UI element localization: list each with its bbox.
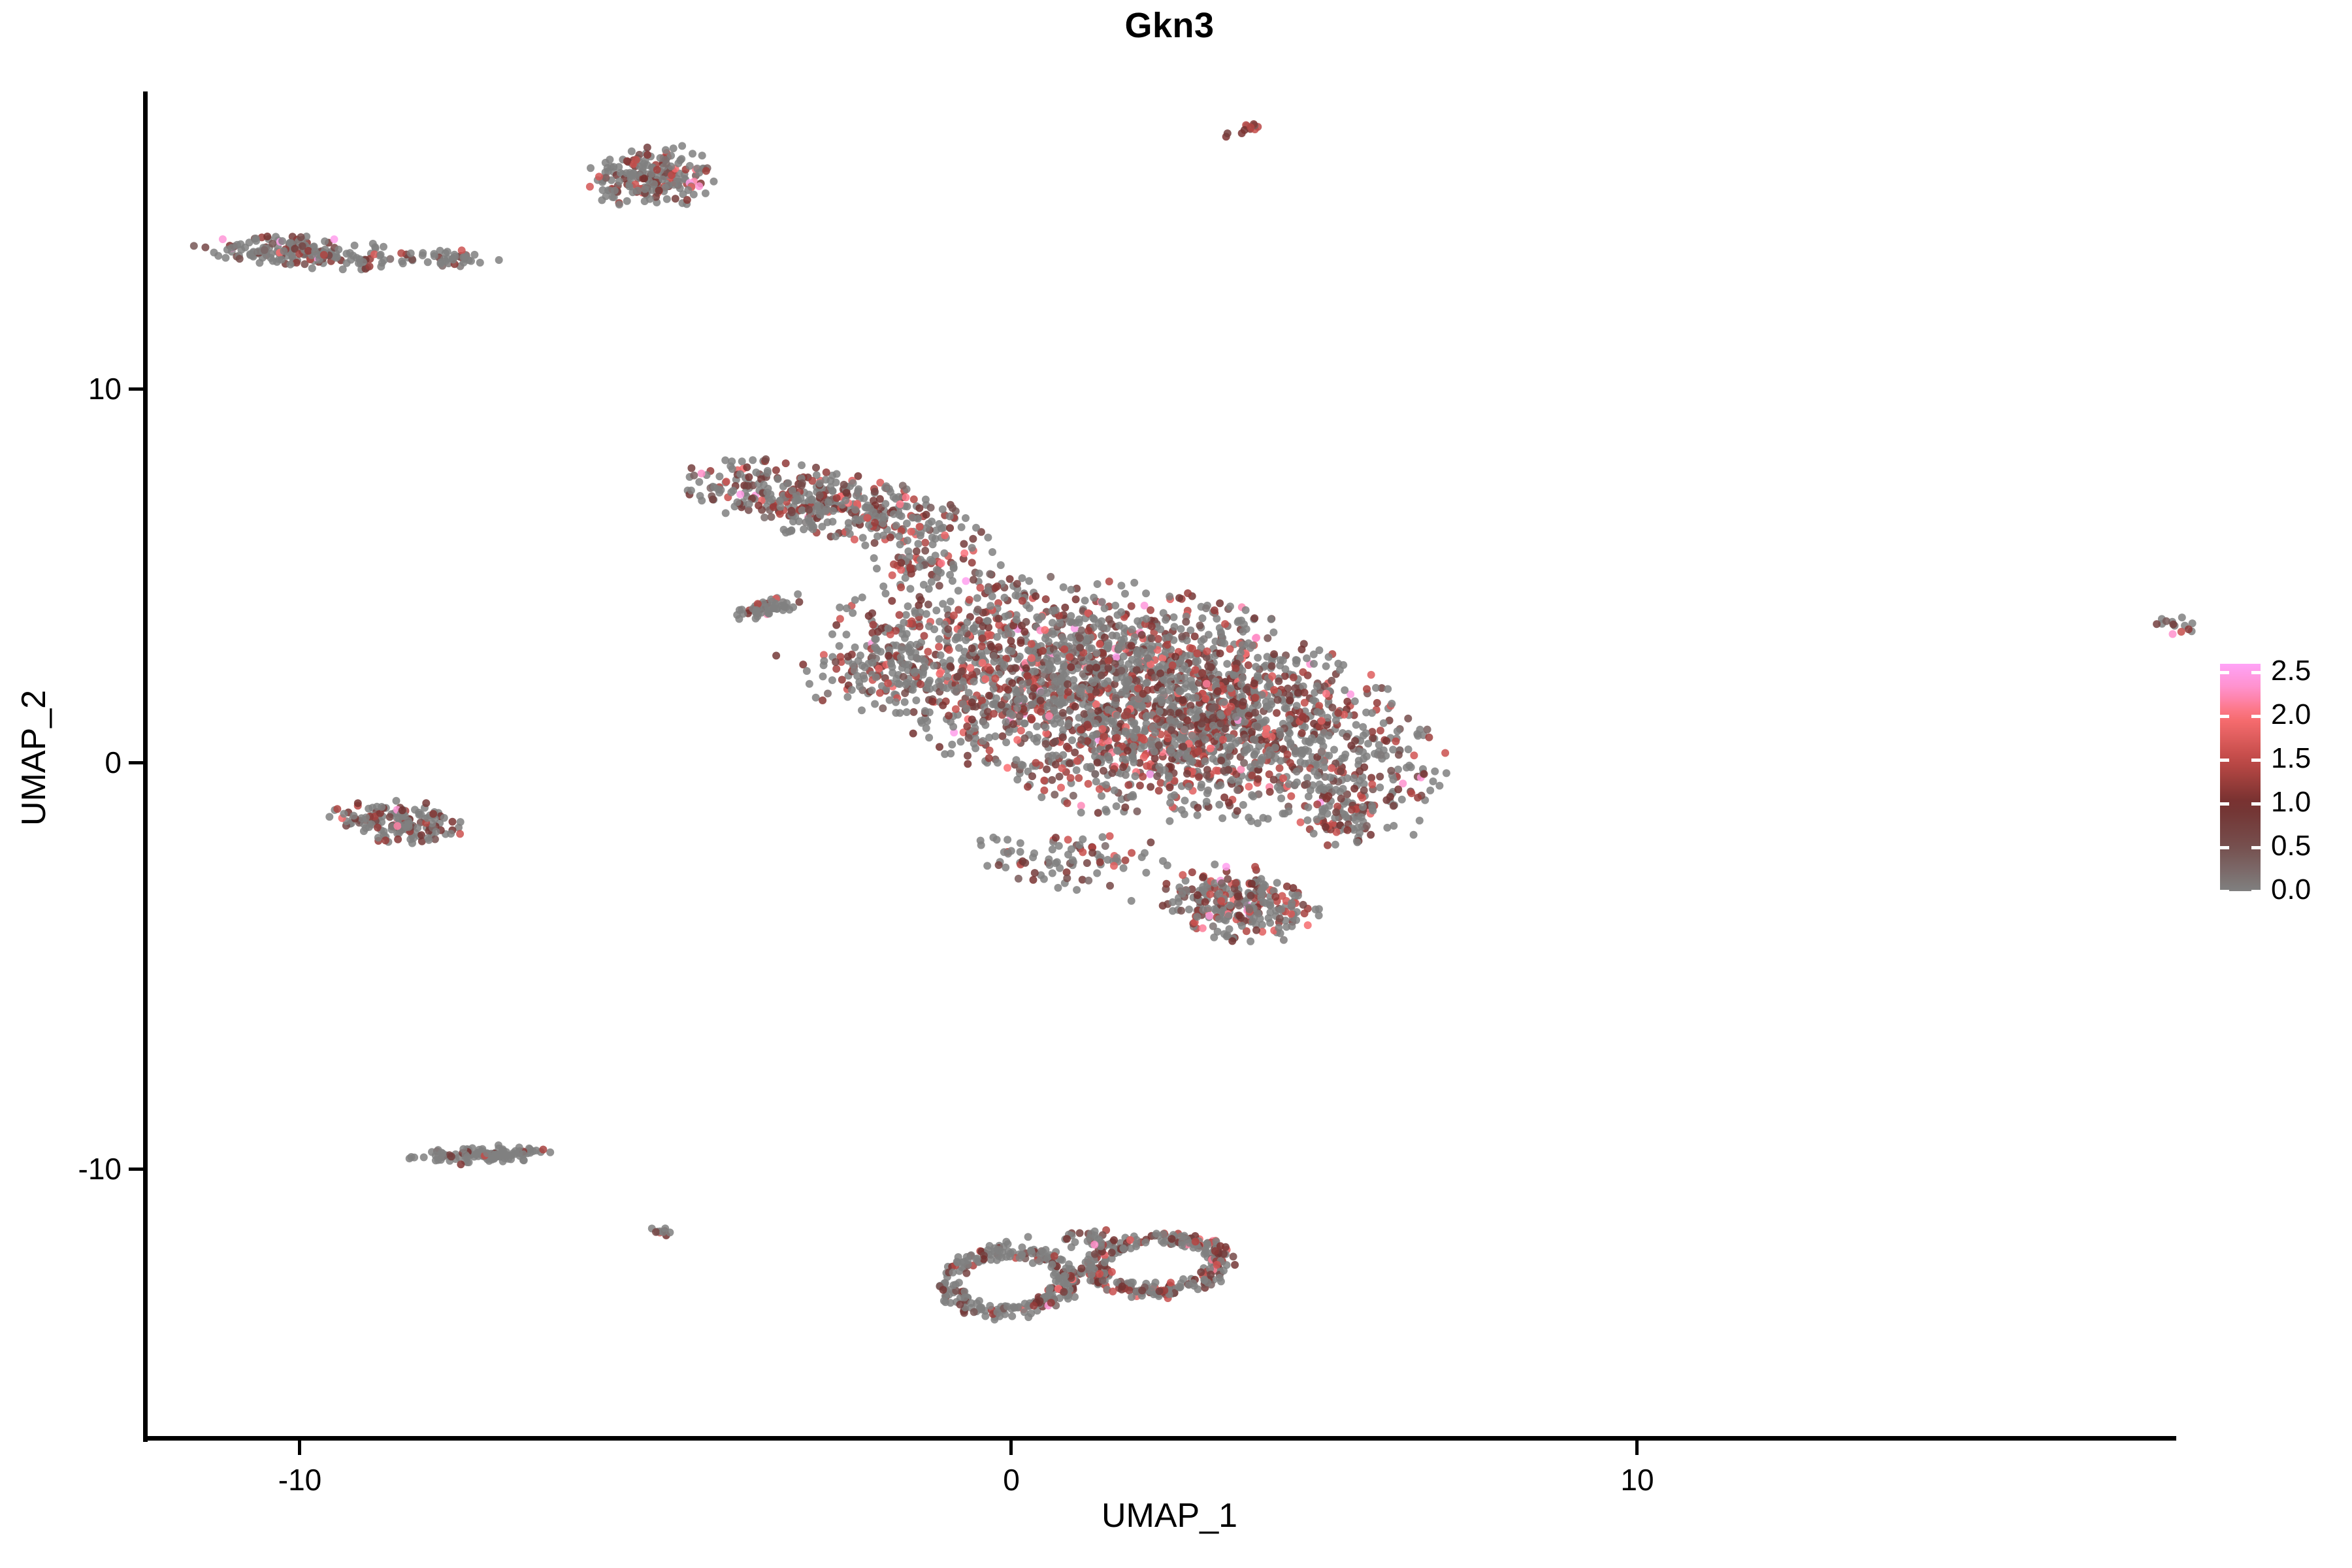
colorbar-tick-2-5 bbox=[2251, 671, 2261, 674]
y-tick-label-10: 10 bbox=[17, 371, 122, 406]
y-axis-title: UMAP_2 bbox=[14, 647, 54, 869]
x-axis-title: UMAP_1 bbox=[973, 1496, 1365, 1535]
x-tick-label-0: 0 bbox=[946, 1462, 1077, 1497]
colorbar-tick-2-0 bbox=[2251, 715, 2261, 718]
colorbar-label-1-5: 1.5 bbox=[2271, 742, 2311, 775]
colorbar-label-1-0: 1.0 bbox=[2271, 786, 2311, 819]
colorbar-label-2-0: 2.0 bbox=[2271, 698, 2311, 731]
colorbar-tick-1-0 bbox=[2251, 802, 2261, 806]
y-tick-label-neg10: -10 bbox=[17, 1151, 122, 1186]
x-tick-mark-neg10 bbox=[298, 1441, 301, 1455]
x-axis-line bbox=[143, 1436, 2176, 1441]
colorbar-tick-1-5 bbox=[2220, 759, 2229, 762]
colorbar-tick-0-5 bbox=[2251, 846, 2261, 849]
colorbar-tick-2-5 bbox=[2220, 671, 2229, 674]
colorbar-label-2-5: 2.5 bbox=[2271, 655, 2311, 687]
y-axis-line bbox=[143, 91, 148, 1442]
x-tick-mark-0 bbox=[1009, 1441, 1013, 1455]
colorbar-label-0-0: 0.0 bbox=[2271, 874, 2311, 906]
colorbar-gradient bbox=[2220, 664, 2261, 891]
colorbar-tick-1-5 bbox=[2251, 759, 2261, 762]
x-tick-label-neg10: -10 bbox=[235, 1462, 365, 1497]
y-tick-mark-0 bbox=[129, 761, 143, 764]
y-tick-mark-10 bbox=[129, 387, 143, 391]
scatter-plot-points bbox=[0, 0, 2352, 1568]
colorbar-tick-2-0 bbox=[2220, 715, 2229, 718]
colorbar-tick-0-5 bbox=[2220, 846, 2229, 849]
page-title: Gkn3 bbox=[0, 5, 2339, 46]
x-tick-mark-10 bbox=[1635, 1441, 1639, 1455]
colorbar-label-0-5: 0.5 bbox=[2271, 830, 2311, 862]
x-tick-label-10: 10 bbox=[1572, 1462, 1703, 1497]
y-tick-mark-neg10 bbox=[129, 1168, 143, 1171]
plot-canvas: Gkn3 10 0 -10 -10 0 10 UMAP_2 UMAP_1 2.5… bbox=[0, 0, 2352, 1568]
colorbar-tick-0-0 bbox=[2220, 890, 2229, 893]
colorbar-tick-0-0 bbox=[2251, 890, 2261, 893]
colorbar-tick-1-0 bbox=[2220, 802, 2229, 806]
